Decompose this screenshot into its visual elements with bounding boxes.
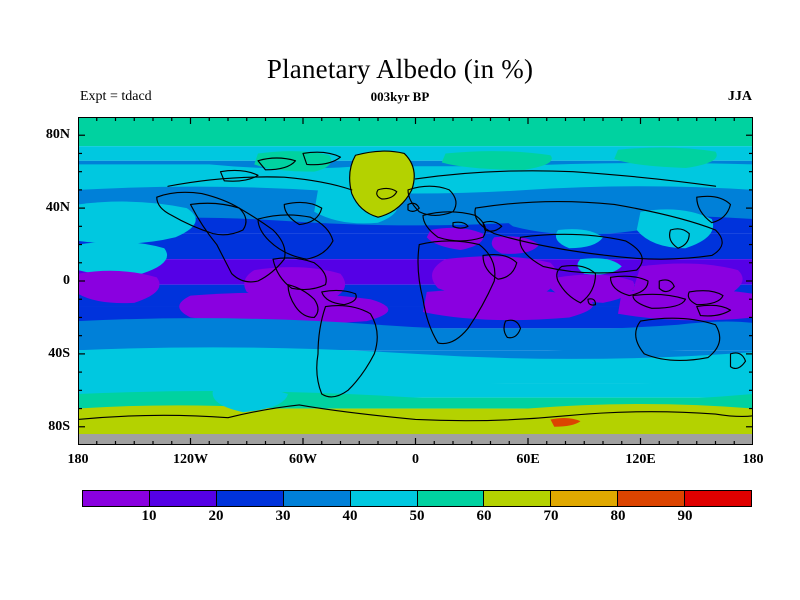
y-tick-label-40N: 40N	[46, 200, 70, 216]
x-tick-label-120E-5: 120E	[625, 452, 655, 468]
page-title: Planetary Albedo (in %)	[0, 54, 800, 85]
x-tick-label-180-6: 180	[743, 452, 764, 468]
x-axis-labels: 180120W60W060E120E180	[78, 452, 753, 474]
y-tick-label-0: 0	[63, 273, 70, 289]
albedo-patch-5	[501, 194, 660, 234]
colorbar-tick-90: 90	[678, 508, 693, 525]
colorbar-tick-40: 40	[343, 508, 358, 525]
y-tick-label-80N: 80N	[46, 127, 70, 143]
x-tick-label-120W-1: 120W	[173, 452, 208, 468]
colorbar-tick-70: 70	[544, 508, 559, 525]
colorbar-tick-10: 10	[142, 508, 157, 525]
experiment-label: Expt = tdacd	[80, 89, 152, 105]
colorbar-band-6[interactable]	[483, 491, 550, 506]
colorbar-band-5[interactable]	[417, 491, 484, 506]
albedo-band-0	[78, 117, 753, 146]
colorbar-band-0[interactable]	[83, 491, 149, 506]
x-tick-label-60E-4: 60E	[516, 452, 539, 468]
colorbar-tick-80: 80	[611, 508, 626, 525]
colorbar-labels: 102030405060708090	[82, 508, 752, 530]
colorbar-tick-20: 20	[209, 508, 224, 525]
colorbar-tick-60: 60	[477, 508, 492, 525]
figure-canvas: Planetary Albedo (in %) 003kyr BP Expt =…	[0, 0, 800, 600]
x-tick-label-0-3: 0	[412, 452, 419, 468]
colorbar-band-3[interactable]	[283, 491, 350, 506]
colorbar-band-9[interactable]	[684, 491, 751, 506]
season-label: JJA	[728, 89, 752, 105]
missing-data-region	[78, 434, 753, 445]
colorbar-tick-30: 30	[276, 508, 291, 525]
colorbar-band-1[interactable]	[149, 491, 216, 506]
y-tick-label-40S: 40S	[48, 346, 70, 362]
colorbar-band-7[interactable]	[550, 491, 617, 506]
colorbar-band-4[interactable]	[350, 491, 417, 506]
colorbar-band-8[interactable]	[617, 491, 684, 506]
x-tick-label-180-0: 180	[68, 452, 89, 468]
albedo-contour-map	[78, 117, 753, 445]
y-tick-label-80S: 80S	[48, 419, 70, 435]
colorbar-tick-50: 50	[410, 508, 425, 525]
y-axis-labels: 80N40N040S80S	[26, 117, 70, 445]
colorbar[interactable]	[82, 490, 752, 507]
colorbar-band-2[interactable]	[216, 491, 283, 506]
map-plot-area	[78, 117, 753, 445]
x-tick-label-60W-2: 60W	[289, 452, 317, 468]
